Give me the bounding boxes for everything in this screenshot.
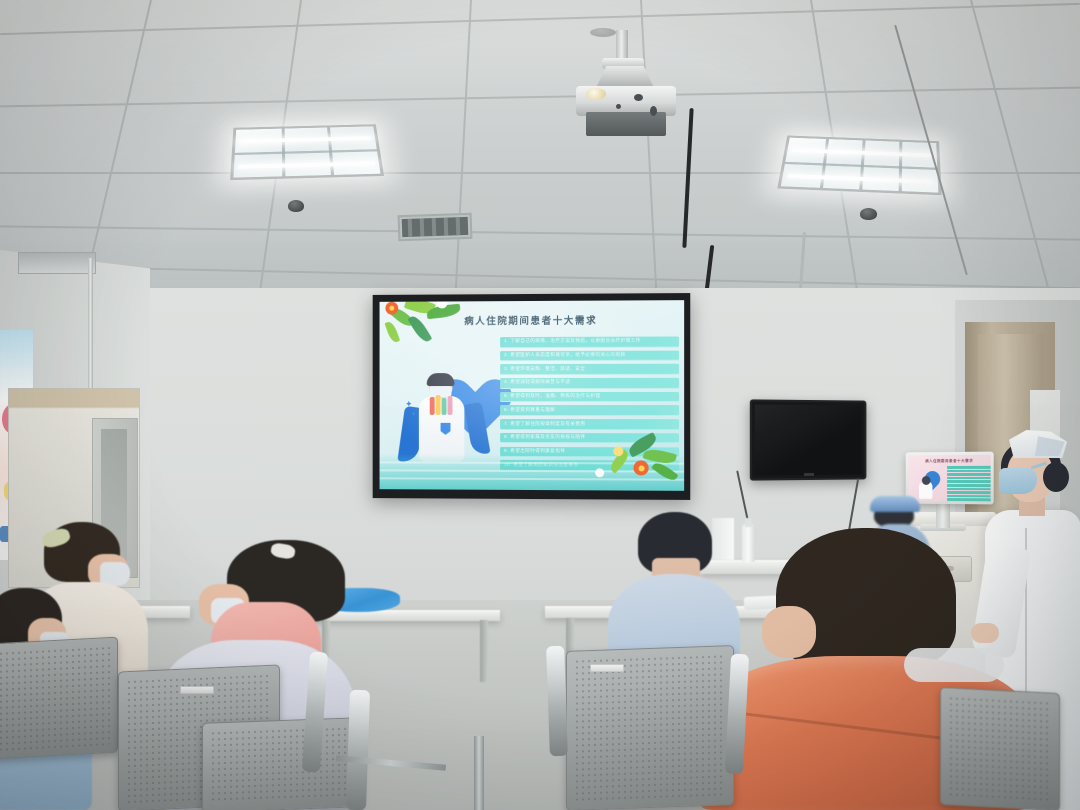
slide-need-row: 3. 希望环境安静、整洁、舒适、安全	[500, 364, 679, 375]
tv-logo	[804, 473, 814, 476]
ceiling-projector	[572, 30, 680, 128]
blind-rod	[88, 258, 93, 390]
window-blind	[18, 252, 96, 274]
blue-cap	[870, 496, 920, 512]
projector-lens	[586, 88, 606, 100]
nurse-hair-bun	[1043, 462, 1069, 492]
chair-right-back[interactable]	[940, 690, 1060, 810]
chair-left-1[interactable]	[0, 640, 118, 760]
slide-decoration-bottom-right	[589, 436, 684, 491]
chair-left-3[interactable]	[202, 720, 362, 810]
projected-slide: 病人住院期间患者十大需求 ✦ ✦ 1. 了解自己的病情、治疗方案及预后，以便配合	[380, 300, 685, 491]
chair-label-sticker-center	[590, 664, 624, 672]
ceiling-light-left	[230, 124, 384, 180]
desk-leg-left-2	[480, 620, 488, 682]
slide-need-row: 6. 希望受到尊重与理解	[500, 405, 679, 416]
photo-scene: 病人住院期间患者十大需求 ✦ ✦ 1. 了解自己的病情、治疗方案及预后，以便配合	[0, 0, 1080, 810]
slide-need-text: 8. 希望得到家属及亲友的探视与陪伴	[504, 434, 585, 440]
slide-need-text: 2. 希望医护人员态度和蔼可亲，给予必要的关心与照顾	[504, 352, 625, 358]
slide-need-text: 6. 希望受到尊重与理解	[504, 407, 555, 413]
chair-armrest-left-2[interactable]	[346, 690, 370, 810]
slide-need-row: 1. 了解自己的病情、治疗方案及预后，以便配合治疗护理工作	[500, 336, 679, 347]
chair-center-1[interactable]	[566, 648, 734, 810]
ceiling-air-vent	[398, 213, 473, 242]
slide-need-row: 5. 希望得到及时、准确、熟练的治疗与护理	[500, 392, 679, 403]
slide-need-text: 1. 了解自己的病情、治疗方案及预后，以便配合治疗护理工作	[504, 338, 641, 344]
smoke-detector-right	[860, 208, 877, 220]
monitor-stand	[936, 500, 950, 528]
jacket-collar	[904, 648, 1004, 682]
ceiling-light-right	[777, 135, 941, 195]
slide-need-text: 3. 希望环境安静、整洁、舒适、安全	[504, 366, 585, 372]
chair-armrest-center[interactable]	[546, 646, 568, 757]
monitor-illustration	[915, 469, 940, 499]
slide-need-text: 5. 希望得到及时、准确、熟练的治疗与护理	[504, 393, 600, 399]
sanitizer-pump	[745, 518, 752, 527]
chair-label-sticker	[180, 686, 214, 694]
chair-frame-rail-2	[474, 736, 484, 810]
slide-need-row: 2. 希望医护人员态度和蔼可亲，给予必要的关心与照顾	[500, 350, 679, 361]
slide-need-row: 4. 希望减轻或解除痛苦与不适	[500, 378, 679, 389]
monitor-screen: 病人住院期间患者十大需求	[909, 455, 991, 502]
smoke-detector-left	[288, 200, 304, 212]
slide-need-text: 4. 希望减轻或解除痛苦与不适	[504, 379, 570, 385]
slide-need-row: 7. 希望了解住院规章制度及有关费用	[500, 419, 679, 430]
slide-need-text: 7. 希望了解住院规章制度及有关费用	[504, 420, 585, 426]
nurse-face-mask	[999, 468, 1037, 494]
figure-hair	[427, 373, 455, 386]
slide-title: 病人住院期间患者十大需求	[380, 312, 685, 327]
projection-screen: 病人住院期间患者十大需求 ✦ ✦ 1. 了解自己的病情、治疗方案及预后，以便配合	[373, 293, 691, 500]
monitor-slide-title: 病人住院期间患者十大需求	[909, 459, 991, 464]
wall-mounted-tv[interactable]	[750, 399, 867, 480]
tv-screen	[755, 405, 862, 476]
